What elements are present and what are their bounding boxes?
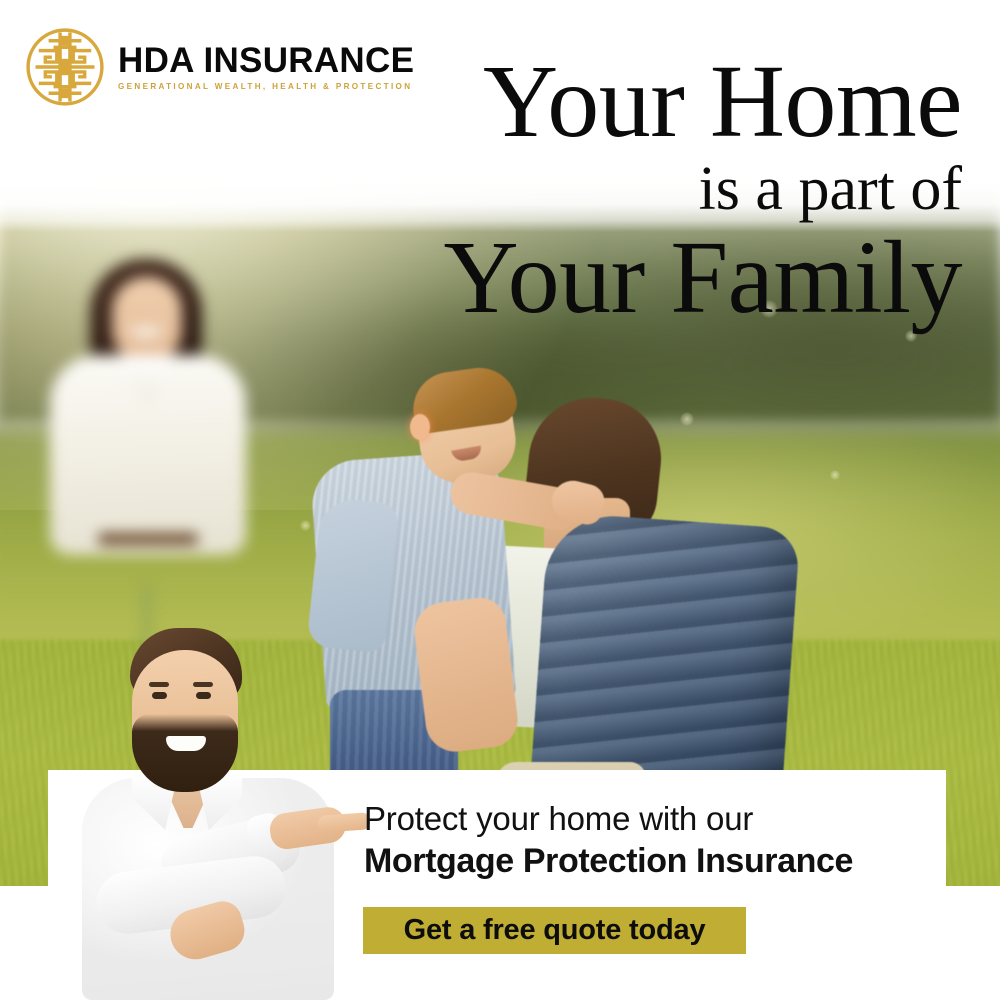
- father-arm: [411, 595, 521, 755]
- headline-line-1: Your Home: [0, 52, 962, 152]
- son-ear: [410, 414, 430, 440]
- agent-photo: [74, 628, 342, 1000]
- agent-smile: [166, 736, 206, 751]
- caption-line-1: Protect your home with our: [364, 800, 853, 839]
- agent-eye-left: [152, 692, 167, 699]
- caption-line-2: Mortgage Protection Insurance: [364, 841, 853, 881]
- agent-eyebrow-left: [149, 682, 169, 687]
- headline-line-2: is a part of: [0, 152, 962, 228]
- caption-text: Protect your home with our Mortgage Prot…: [364, 800, 853, 881]
- headline: Your Home is a part of Your Family: [0, 52, 962, 329]
- agent-eyebrow-right: [193, 682, 213, 687]
- father-and-son: [300, 370, 780, 830]
- agent-eye-right: [196, 692, 211, 699]
- agent-pointing-finger: [317, 812, 370, 833]
- insurance-advertisement: HDA INSURANCE GENERATIONAL WEALTH, HEALT…: [0, 0, 1000, 1000]
- get-quote-button[interactable]: Get a free quote today: [363, 907, 746, 954]
- get-quote-button-label: Get a free quote today: [404, 914, 706, 947]
- headline-line-3: Your Family: [0, 227, 962, 329]
